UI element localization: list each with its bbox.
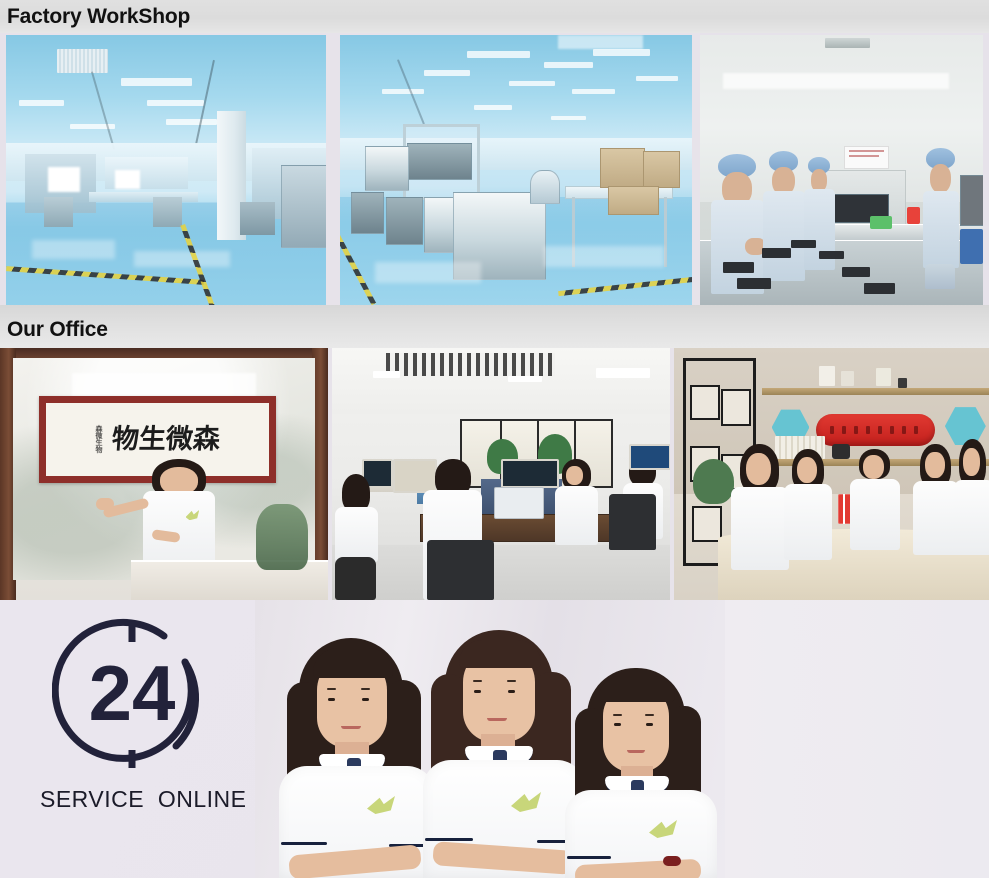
receptionist-figure bbox=[138, 459, 230, 575]
section-header-factory: Factory WorkShop bbox=[0, 0, 989, 33]
factory-photo-row bbox=[0, 33, 989, 305]
office-photo-row: 森微生物 物生微森 bbox=[0, 348, 989, 600]
meeting-person-3 bbox=[850, 449, 904, 550]
meeting-person-5 bbox=[954, 439, 989, 555]
page-title-office: Our Office bbox=[0, 313, 108, 340]
24-hour-clock-badge: 24 bbox=[52, 616, 212, 776]
clock-number: 24 bbox=[89, 649, 176, 737]
panel-right-fill bbox=[725, 600, 989, 878]
photo-reception-calligraphy-wall: 森微生物 物生微森 bbox=[0, 348, 328, 600]
photo-cleanroom-production-hall bbox=[6, 35, 326, 305]
photo-open-plan-office bbox=[332, 348, 670, 600]
calligraphy-side-text: 森微生物 bbox=[96, 425, 103, 453]
photo-assembly-line-workers bbox=[700, 35, 983, 305]
meeting-person-2 bbox=[784, 449, 838, 560]
section-header-office: Our Office bbox=[0, 305, 989, 348]
team-member-right bbox=[551, 642, 725, 878]
service-online-panel: 24 SERVICE ONLINE bbox=[0, 600, 989, 878]
office-worker-left bbox=[335, 474, 382, 600]
photo-customer-service-team bbox=[255, 600, 725, 878]
office-worker-center bbox=[555, 459, 602, 545]
calligraphy-main-text: 物生微森 bbox=[111, 426, 221, 453]
service-online-caption: SERVICE ONLINE bbox=[40, 786, 246, 813]
photo-meeting-room-product-display bbox=[674, 348, 989, 600]
photo-automated-packaging-line bbox=[340, 35, 692, 305]
page-title-factory: Factory WorkShop bbox=[0, 6, 190, 27]
promo-page: Factory WorkShop bbox=[0, 0, 989, 878]
